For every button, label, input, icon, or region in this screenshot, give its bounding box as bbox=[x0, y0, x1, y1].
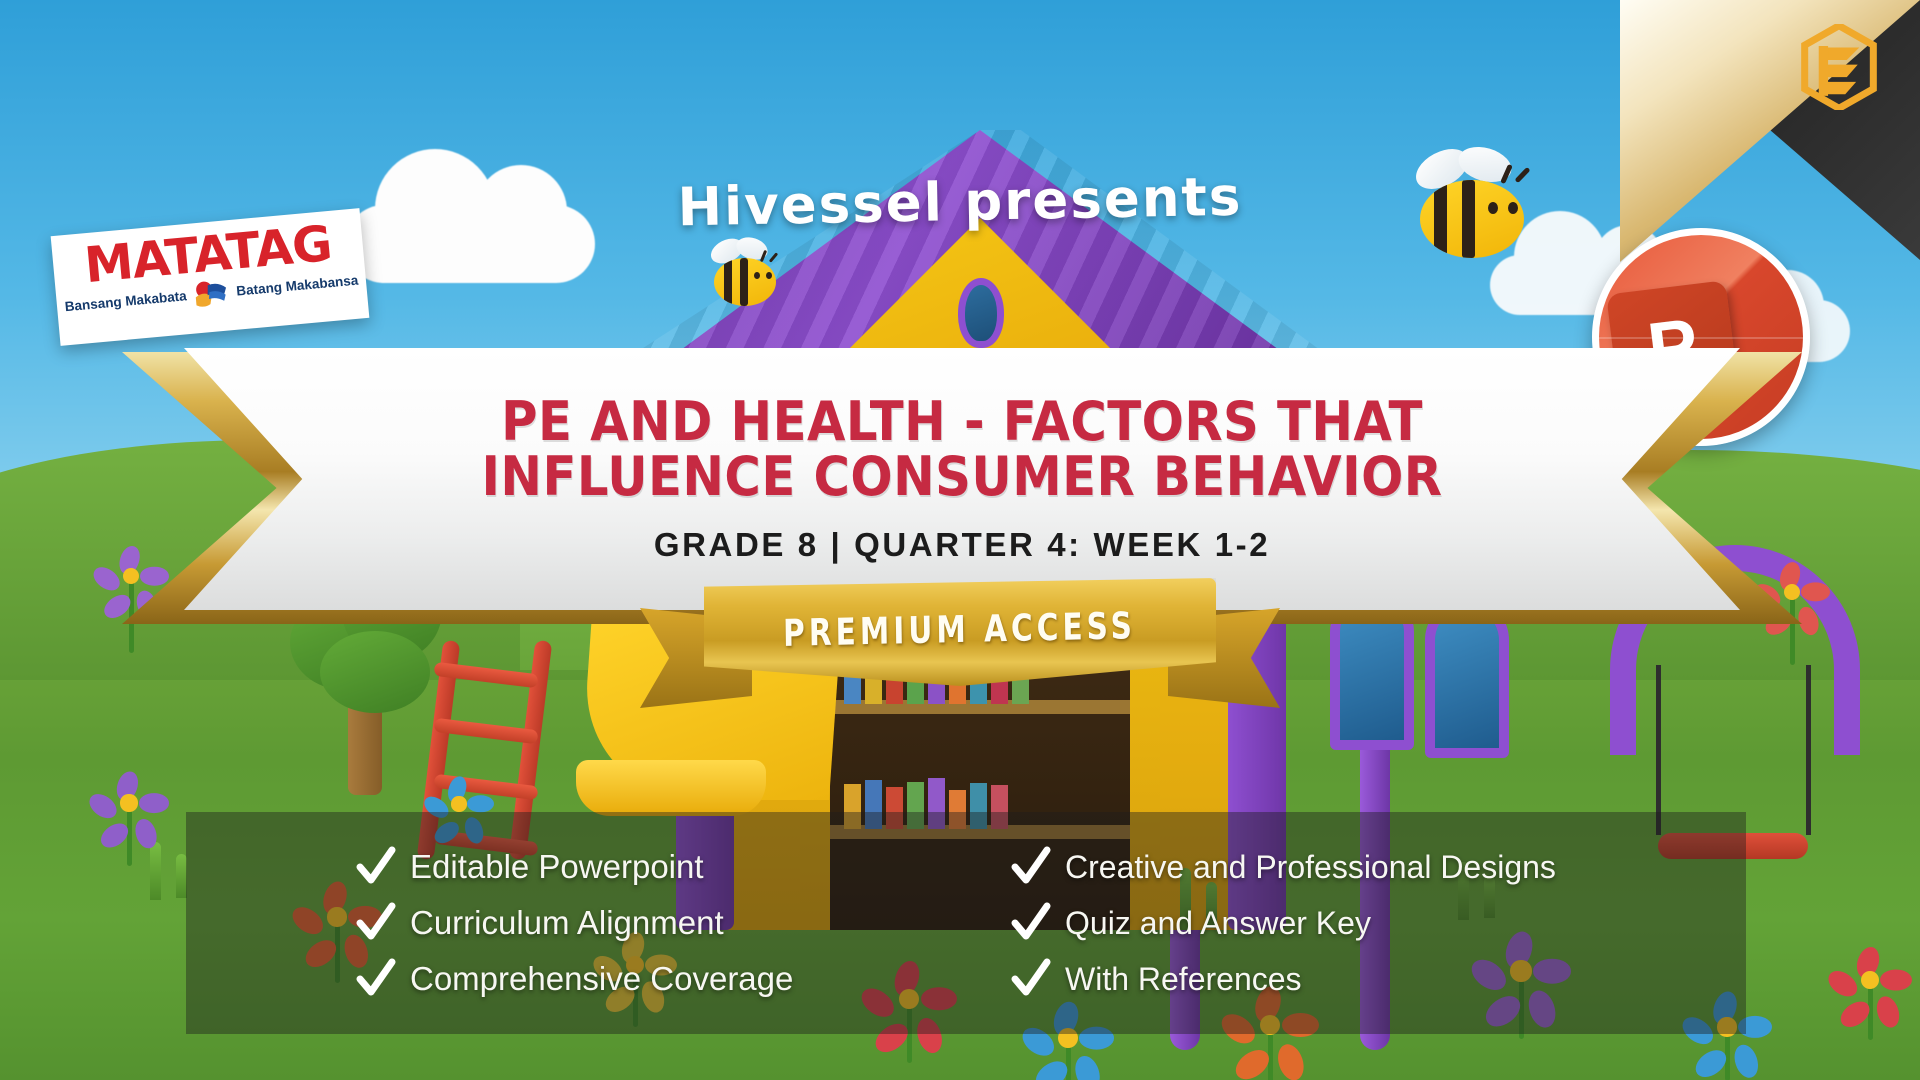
feature-item: Creative and Professional Designs bbox=[1011, 846, 1711, 888]
feature-label: Quiz and Answer Key bbox=[1065, 905, 1371, 942]
clasped-hands-icon bbox=[190, 278, 232, 308]
playground-slide-lip bbox=[576, 760, 766, 816]
check-icon bbox=[356, 958, 396, 1000]
features-right-column: Creative and Professional Designs Quiz a… bbox=[1011, 846, 1711, 1000]
feature-item: With References bbox=[1011, 958, 1711, 1000]
check-icon bbox=[1011, 958, 1051, 1000]
bee-icon bbox=[700, 240, 790, 318]
ribbon-center: PREMIUM ACCESS bbox=[704, 578, 1216, 686]
flower-icon bbox=[1835, 945, 1905, 1015]
check-icon bbox=[356, 846, 396, 888]
feature-label: Editable Powerpoint bbox=[410, 848, 704, 886]
flower-icon bbox=[96, 770, 162, 836]
matatag-tagline-left: Bansang Makabata bbox=[64, 288, 187, 314]
page-curl-corner bbox=[1620, 0, 1920, 260]
feature-label: Curriculum Alignment bbox=[410, 904, 724, 942]
page-title: PE AND HEALTH - FACTORS THAT INFLUENCE C… bbox=[419, 394, 1505, 504]
feature-item: Quiz and Answer Key bbox=[1011, 902, 1711, 944]
feature-item: Comprehensive Coverage bbox=[356, 958, 911, 1000]
banner-white-ribbon: PE AND HEALTH - FACTORS THAT INFLUENCE C… bbox=[184, 348, 1740, 610]
feature-label: With References bbox=[1065, 961, 1302, 998]
feature-label: Creative and Professional Designs bbox=[1065, 849, 1556, 886]
feature-item: Editable Powerpoint bbox=[356, 846, 911, 888]
banner-subtitle: GRADE 8 | QUARTER 4: WEEK 1-2 bbox=[654, 526, 1270, 564]
check-icon bbox=[1011, 846, 1051, 888]
feature-label: Comprehensive Coverage bbox=[410, 960, 793, 998]
premium-access-ribbon: PREMIUM ACCESS bbox=[640, 578, 1280, 728]
feature-item: Curriculum Alignment bbox=[356, 902, 911, 944]
features-left-column: Editable Powerpoint Curriculum Alignment… bbox=[356, 846, 911, 1000]
features-panel: Editable Powerpoint Curriculum Alignment… bbox=[186, 812, 1746, 1034]
premium-badge-label: PREMIUM ACCESS bbox=[783, 604, 1136, 655]
hexagon-hive-logo-icon bbox=[1800, 24, 1878, 110]
check-icon bbox=[356, 902, 396, 944]
check-icon bbox=[1011, 902, 1051, 944]
